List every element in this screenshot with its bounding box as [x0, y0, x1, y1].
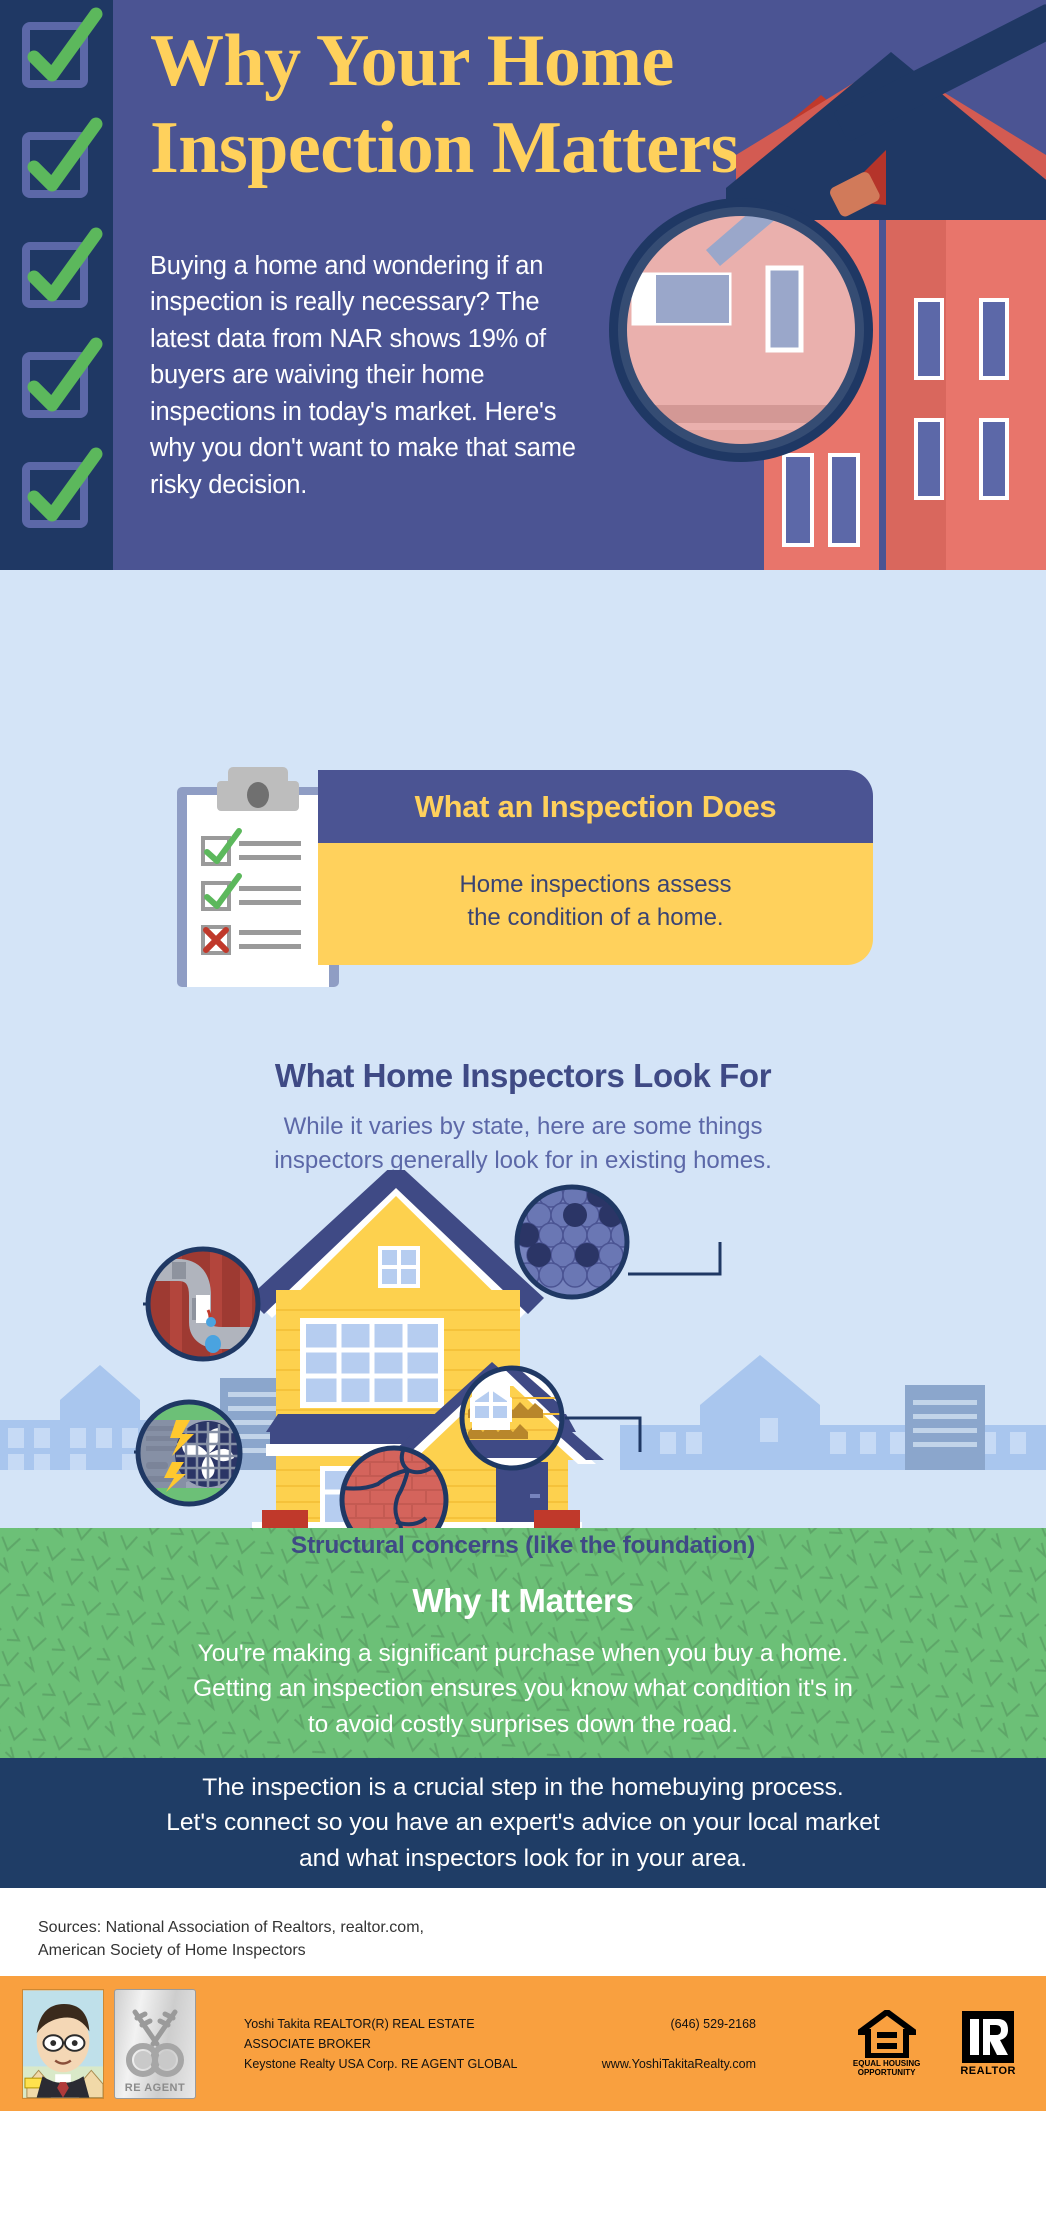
infographic-page: Why Your Home Inspection Matters Buying …: [0, 0, 1046, 2225]
why-line-1: You're making a significant purchase whe…: [0, 1636, 1046, 1671]
why-it-matters-section: Structural concerns (like the foundation…: [0, 1528, 1046, 1758]
agent-row-2: Keystone Realty USA Corp. RE AGENT GLOBA…: [244, 2054, 756, 2074]
why-line-2: Getting an inspection ensures you know w…: [0, 1671, 1046, 1706]
sources-section: Sources: National Association of Realtor…: [0, 1888, 1046, 1976]
leader-roof: [628, 1242, 720, 1274]
cracked-foundation-icon-circle: [342, 1448, 446, 1528]
checkmark-list-icon: [0, 0, 113, 570]
why-it-matters-title: Why It Matters: [0, 1582, 1046, 1620]
agent-avatar: [22, 1989, 104, 2099]
card-body-line-1: Home inspections assess: [459, 868, 731, 901]
compliance-logos: EQUAL HOUSING OPPORTUNITY REALTOR: [853, 2010, 1046, 2077]
checkmark-column: [0, 0, 113, 570]
agent-footer: RE AGENT Yoshi Takita REALTOR(R) REAL ES…: [0, 1976, 1046, 2111]
card-heading-text: What an Inspection Does: [415, 789, 777, 825]
agent-row-1: Yoshi Takita REALTOR(R) REAL ESTATE ASSO…: [244, 2014, 756, 2054]
leaking-pipe-icon-circle: [148, 1249, 262, 1359]
header-section: Why Your Home Inspection Matters Buying …: [0, 0, 1046, 570]
inspectors-section: What an Inspection Does Home inspections…: [0, 570, 1046, 1528]
agent-phone[interactable]: (646) 529-2168: [524, 2014, 756, 2054]
look-for-subtitle-line-1: While it varies by state, here are some …: [0, 1110, 1046, 1144]
agent-website[interactable]: www.YoshiTakitaRealty.com: [524, 2054, 756, 2074]
cta-line-3: and what inspectors look for in your are…: [299, 1841, 747, 1876]
magnifier-house-illustration: [586, 0, 1046, 570]
card-body-line-2: the condition of a home.: [467, 901, 723, 934]
house-diagram: [0, 1170, 1046, 1528]
equal-housing-logo: EQUAL HOUSING OPPORTUNITY: [853, 2010, 920, 2077]
why-it-matters-body: You're making a significant purchase whe…: [0, 1636, 1046, 1742]
card-body: Home inspections assess the condition of…: [318, 843, 873, 965]
header-body-text: Buying a home and wondering if an inspec…: [150, 248, 590, 503]
sources-line-1: Sources: National Association of Realtor…: [38, 1916, 1046, 1939]
hvac-unit-icon-circle: [138, 1402, 241, 1504]
agent-contact-info: Yoshi Takita REALTOR(R) REAL ESTATE ASSO…: [244, 2014, 756, 2074]
re-agent-logo: RE AGENT: [114, 1989, 196, 2099]
re-agent-wordmark: RE AGENT: [125, 2082, 185, 2094]
why-line-3: to avoid costly surprises down the road.: [0, 1707, 1046, 1742]
roof-shingles-icon-circle: [515, 1183, 647, 1297]
agent-brokerage: Keystone Realty USA Corp. RE AGENT GLOBA…: [244, 2054, 524, 2074]
agent-name-title: Yoshi Takita REALTOR(R) REAL ESTATE ASSO…: [244, 2014, 524, 2054]
cta-line-2: Let's connect so you have an expert's ad…: [166, 1805, 879, 1840]
equal-housing-caption: EQUAL HOUSING OPPORTUNITY: [853, 2060, 920, 2077]
realtor-r-icon: [962, 2011, 1014, 2063]
callout-label-structural: Structural concerns (like the foundation…: [0, 1532, 1046, 1560]
cta-line-1: The inspection is a crucial step in the …: [202, 1770, 843, 1805]
equal-housing-icon: [858, 2010, 916, 2058]
sources-line-2: American Society of Home Inspectors: [38, 1939, 1046, 1962]
realtor-logo: REALTOR: [960, 2011, 1016, 2077]
crossed-keys-icon: [117, 2004, 193, 2082]
what-inspection-does-card: What an Inspection Does Home inspections…: [318, 770, 873, 965]
card-heading: What an Inspection Does: [318, 770, 873, 843]
cta-section: The inspection is a crucial step in the …: [0, 1758, 1046, 1888]
look-for-subtitle: While it varies by state, here are some …: [0, 1110, 1046, 1178]
look-for-title: What Home Inspectors Look For: [0, 1057, 1046, 1095]
realtor-caption: REALTOR: [960, 2065, 1016, 2077]
